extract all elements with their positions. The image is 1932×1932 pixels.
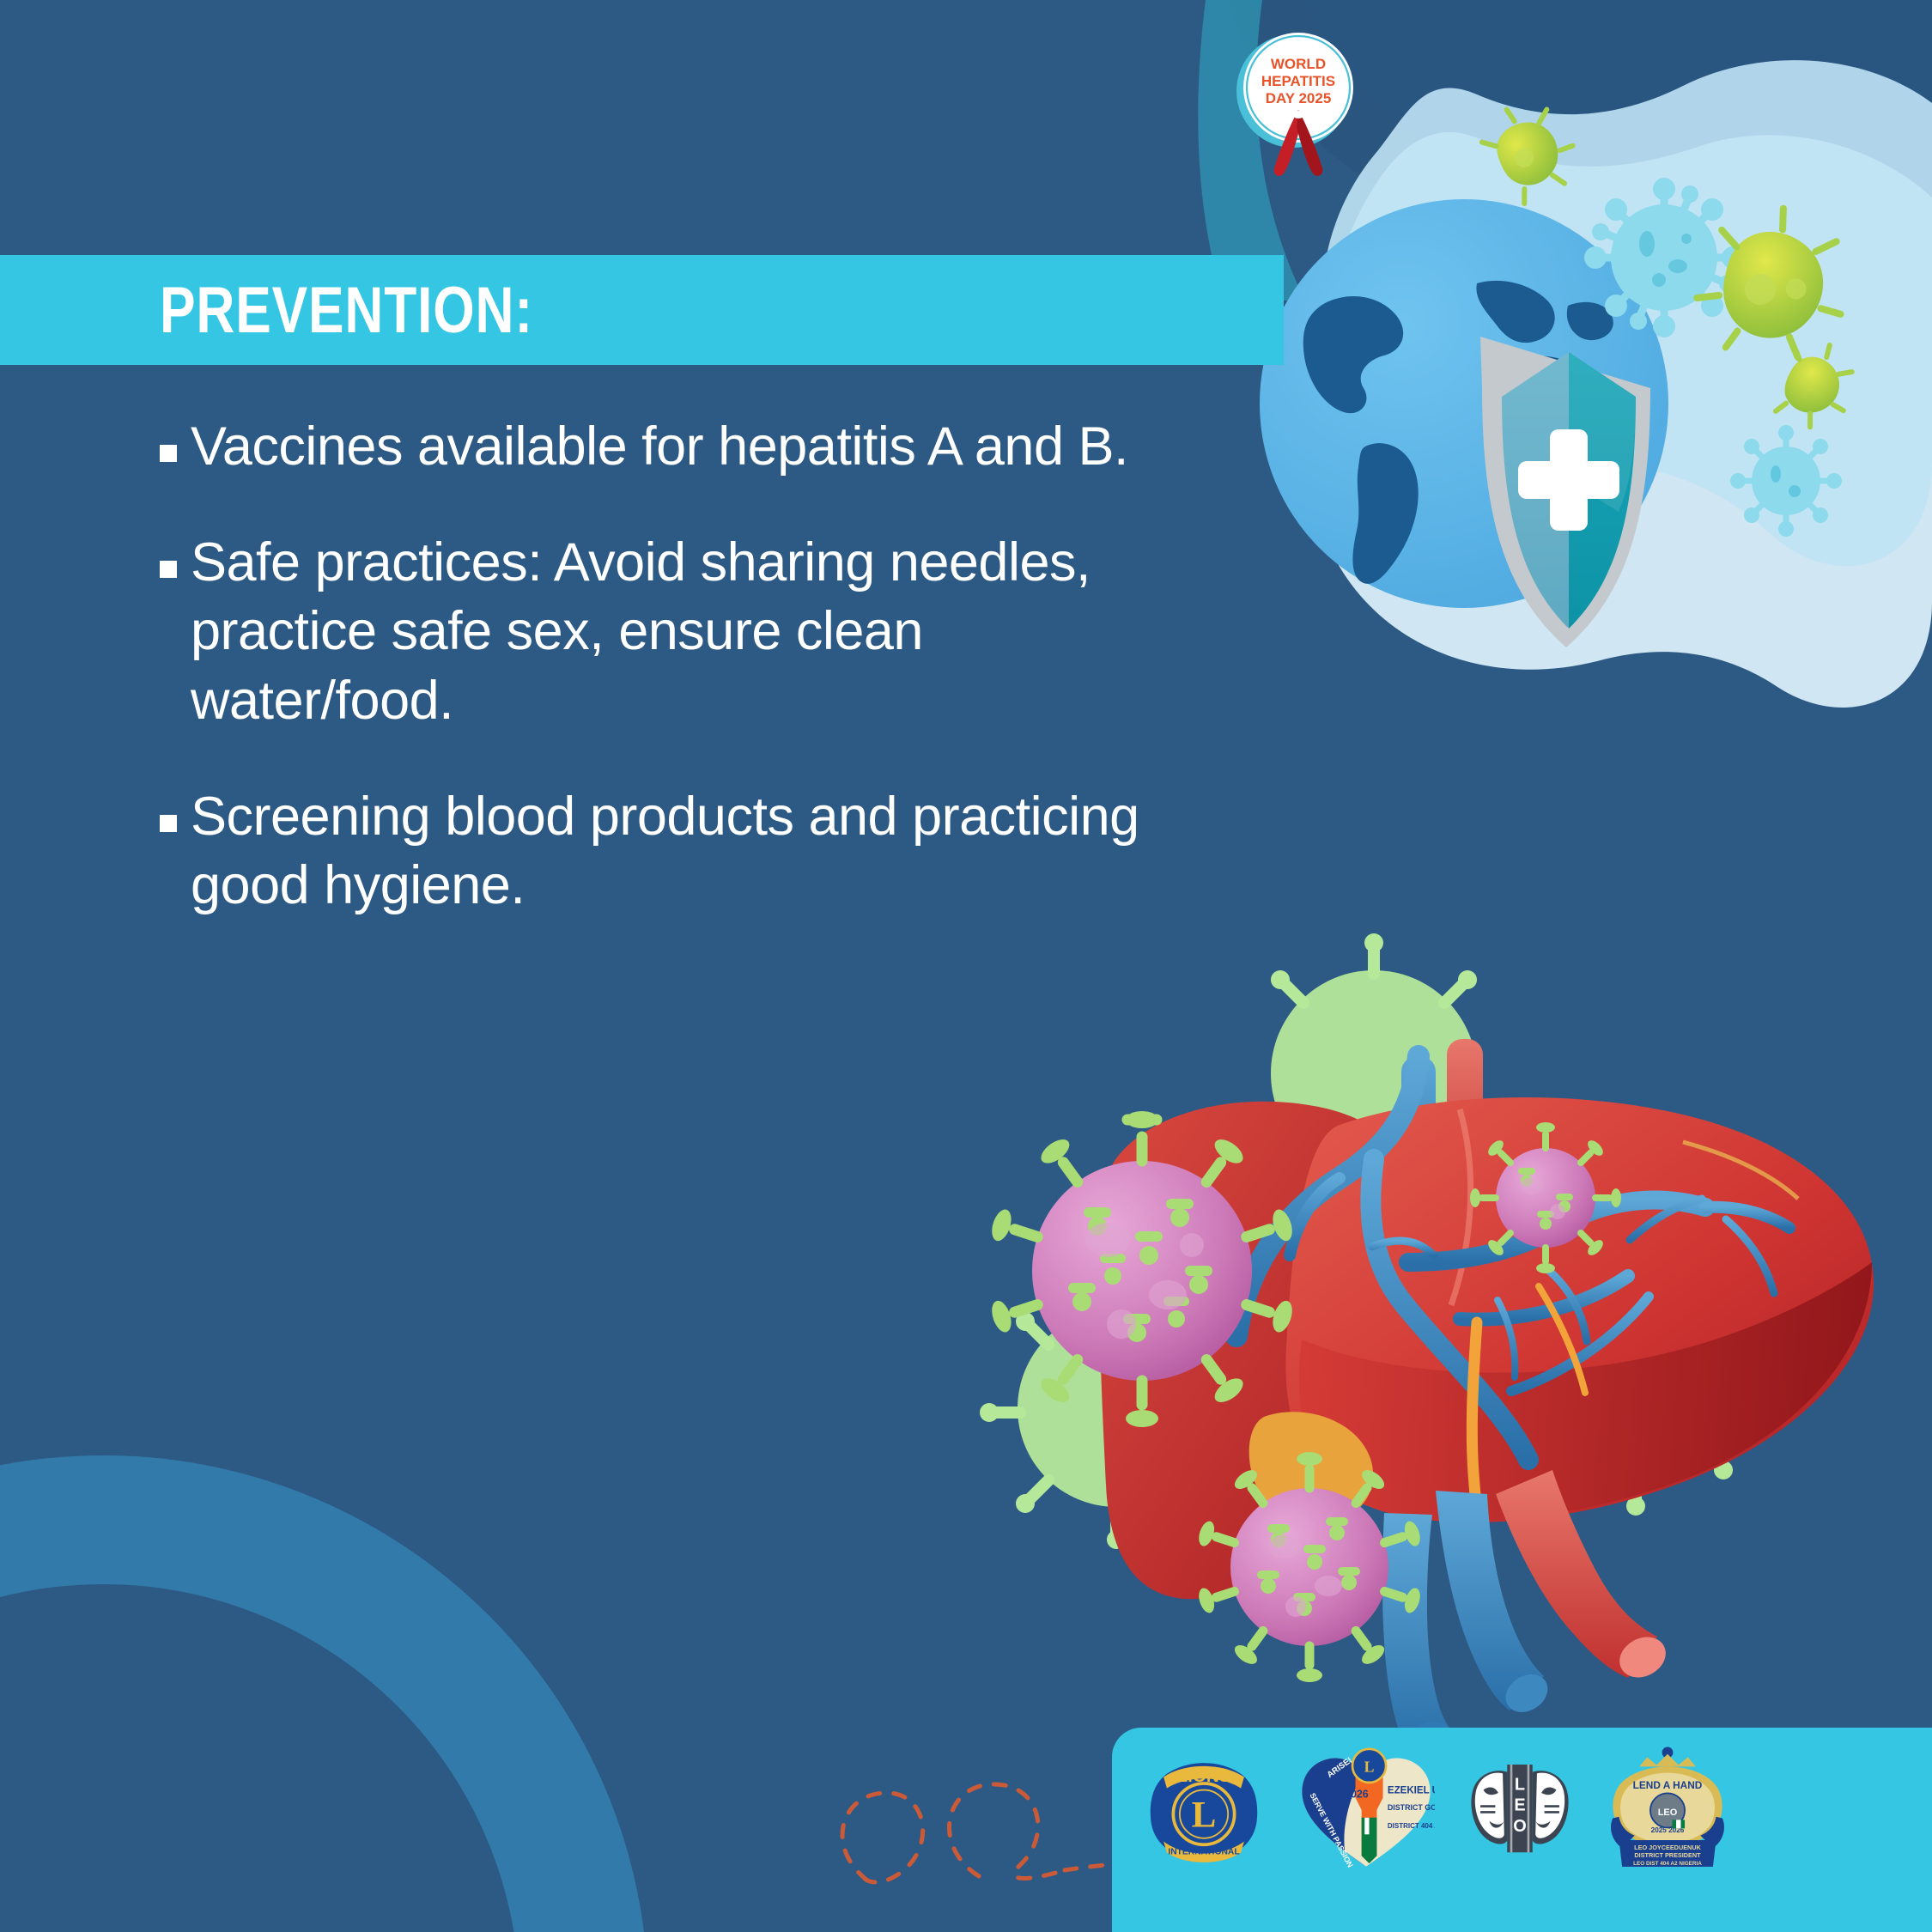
crest-district: LEO DIST 404 A2 NIGERIA	[1633, 1861, 1702, 1867]
bullet-square-icon	[160, 815, 177, 832]
lend-a-hand-crest-logo: LEND A HAND LEO 2025 2026 LEO JOYCEEDUEN…	[1605, 1743, 1730, 1876]
list-item: Vaccines available for hepatitis A and B…	[160, 412, 1173, 482]
dg-role: DISTRICT GOVERNOR	[1388, 1803, 1435, 1812]
bullet-square-icon	[160, 561, 177, 578]
svg-text:L: L	[1515, 1775, 1525, 1794]
list-item-text: Vaccines available for hepatitis A and B…	[191, 412, 1128, 482]
lions-international-logo: LIONS L INTERNATIONAL	[1139, 1745, 1268, 1874]
prevention-bullet-list: Vaccines available for hepatitis A and B…	[160, 412, 1173, 967]
dg-years: 2025 2026	[1318, 1789, 1369, 1801]
crest-role: DISTRICT PRESIDENT	[1634, 1851, 1701, 1859]
page-title: PREVENTION:	[160, 273, 533, 348]
liver-virus-illustration	[980, 933, 1874, 1765]
leo-club-logo: L E O	[1464, 1757, 1576, 1862]
world-hepatitis-day-badge: WORLD HEPATITIS DAY 2025	[1230, 31, 1367, 184]
list-item: Safe practices: Avoid sharing needles, p…	[160, 528, 1173, 736]
crest-center-text: LEO	[1658, 1807, 1678, 1817]
footer-logo-bar: LIONS L INTERNATIONAL ARISE! SERVE WITH …	[1112, 1728, 1932, 1932]
district-governor-logo: ARISE! SERVE WITH PASSION L 2025 2026 EZ…	[1297, 1744, 1435, 1874]
list-item: Screening blood products and practicing …	[160, 782, 1173, 920]
bullet-square-icon	[160, 445, 177, 462]
poster-canvas: WORLD HEPATITIS DAY 2025 PREVENTION: Vac…	[0, 0, 1932, 1932]
svg-text:L: L	[1364, 1758, 1375, 1775]
badge-line1: WORLD	[1271, 56, 1326, 72]
prevention-banner: PREVENTION:	[0, 255, 1284, 365]
lions-logo-bottom-text: INTERNATIONAL	[1168, 1848, 1239, 1857]
list-item-text: Screening blood products and practicing …	[191, 782, 1152, 920]
globe-shield-illustration	[1260, 199, 1668, 647]
dg-district: DISTRICT 404 A2	[1388, 1822, 1435, 1830]
list-item-text: Safe practices: Avoid sharing needles, p…	[191, 528, 1152, 736]
crest-top-text: LEND A HAND	[1633, 1778, 1703, 1790]
badge-line2: HEPATITIS	[1261, 73, 1335, 89]
dg-person-name: EZEKIEL UMOH	[1388, 1785, 1435, 1795]
svg-text:O: O	[1513, 1817, 1527, 1836]
svg-text:E: E	[1514, 1796, 1525, 1815]
crest-name-text: LEO JOYCEEDUENUK	[1634, 1844, 1701, 1851]
logo-strip: LIONS L INTERNATIONAL ARISE! SERVE WITH …	[1112, 1736, 1792, 1882]
badge-line3: DAY 2025	[1266, 90, 1332, 106]
lions-logo-center-letter: L	[1192, 1795, 1217, 1836]
